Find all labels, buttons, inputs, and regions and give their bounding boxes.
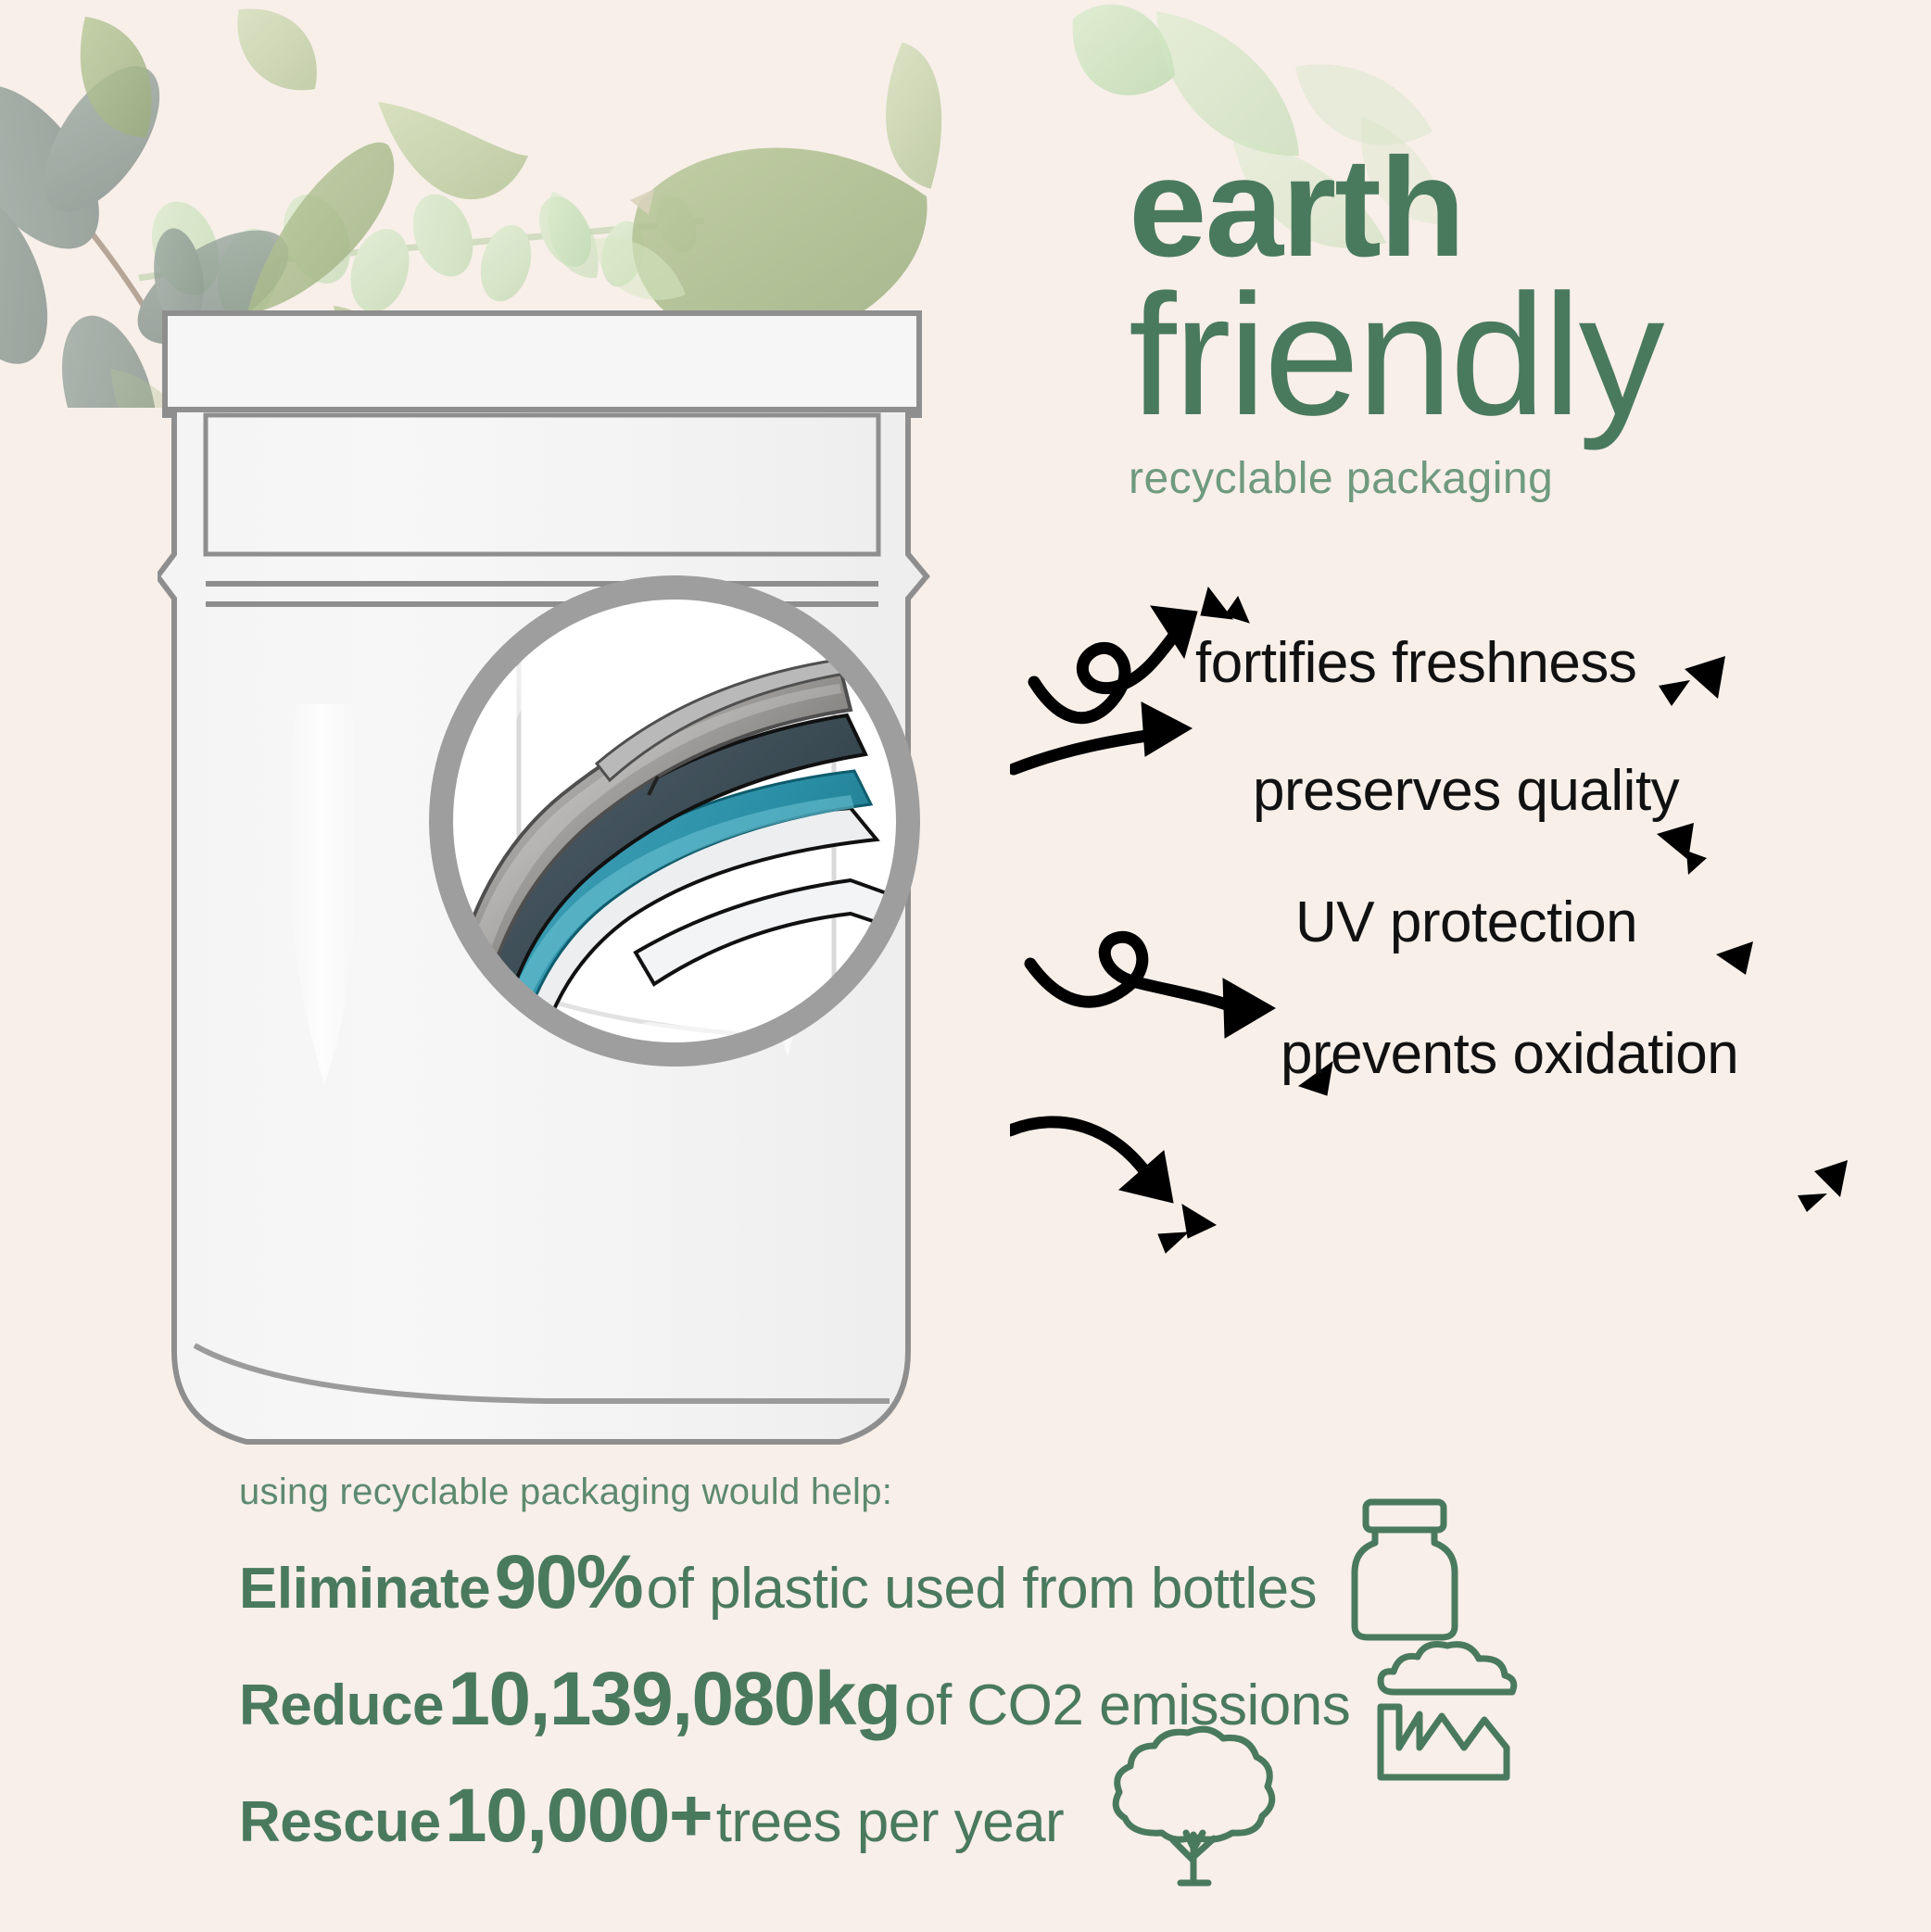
arrow-uv-protection <box>1030 937 1275 1038</box>
spark-prevents-oxidation <box>1158 1205 1216 1253</box>
tree-icon <box>1104 1722 1281 1898</box>
stat-tail: trees per year <box>716 1790 1065 1854</box>
stat-tail: of plastic used from bottles <box>647 1557 1317 1621</box>
headline-line-1: earth <box>1129 139 1888 277</box>
arrow-fortifies-freshness <box>1034 606 1197 718</box>
stat-value: 10,000+ <box>445 1774 712 1858</box>
feature-label-preserves-quality: preserves quality <box>1253 758 1679 824</box>
stat-row-trees: Rescue 10,000+ trees per year <box>239 1778 1629 1854</box>
headline-subtitle: recyclable packaging <box>1129 453 1888 504</box>
headline-line-2: friendly <box>1129 271 1888 440</box>
magnifier-circle <box>415 534 934 1108</box>
stat-value: 90% <box>495 1540 643 1624</box>
headline-block: earth friendly recyclable packaging <box>1129 139 1888 504</box>
stat-verb: Rescue <box>239 1790 441 1854</box>
stat-verb: Reduce <box>239 1673 444 1737</box>
stat-verb: Eliminate <box>239 1557 490 1621</box>
feature-label-uv-protection: UV protection <box>1295 890 1637 955</box>
bottle-icon <box>1331 1496 1479 1645</box>
factory-icon <box>1368 1631 1525 1788</box>
arrow-prevents-oxidation <box>1010 1122 1173 1203</box>
feature-label-prevents-oxidation: prevents oxidation <box>1281 1021 1738 1087</box>
feature-label-fortifies-freshness: fortifies freshness <box>1195 630 1636 696</box>
stat-value: 10,139,080kg <box>448 1657 900 1741</box>
callout-trailing-sparks <box>1649 649 1899 1223</box>
infographic-canvas: earth friendly recyclable packaging fort… <box>0 0 1931 1932</box>
spark-preserves-quality <box>1201 587 1249 623</box>
